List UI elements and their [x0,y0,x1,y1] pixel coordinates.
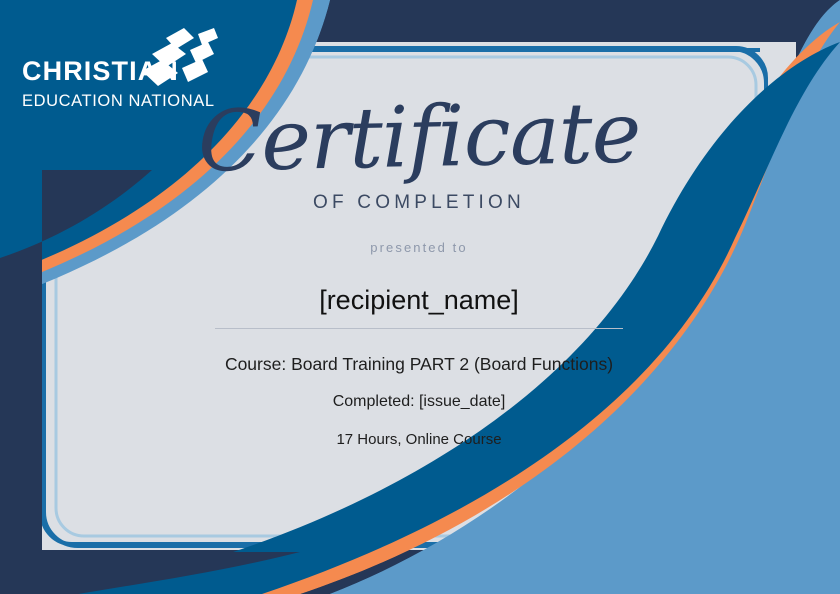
course-line: Course: Board Training PART 2 (Board Fun… [225,354,613,375]
overlay-bottom-navy-band [0,552,300,594]
tilted-grid-squares-icon [132,24,218,92]
completed-line: Completed: [issue_date] [333,393,506,411]
certificate-subtitle: OF COMPLETION [313,192,525,214]
recipient-underline [215,328,623,329]
certificate-page: CHRISTIAN EDUCATION NATIONAL Certificate… [0,0,840,594]
presented-to-label: presented to [370,240,467,255]
certificate-title: Certificate [197,93,641,182]
brand-logo: CHRISTIAN EDUCATION NATIONAL [22,24,222,110]
certificate-content: Certificate OF COMPLETION presented to [… [42,42,796,550]
recipient-name: [recipient_name] [319,285,519,316]
logo-name-line2: EDUCATION NATIONAL [22,93,222,110]
hours-line: 17 Hours, Online Course [336,431,501,448]
